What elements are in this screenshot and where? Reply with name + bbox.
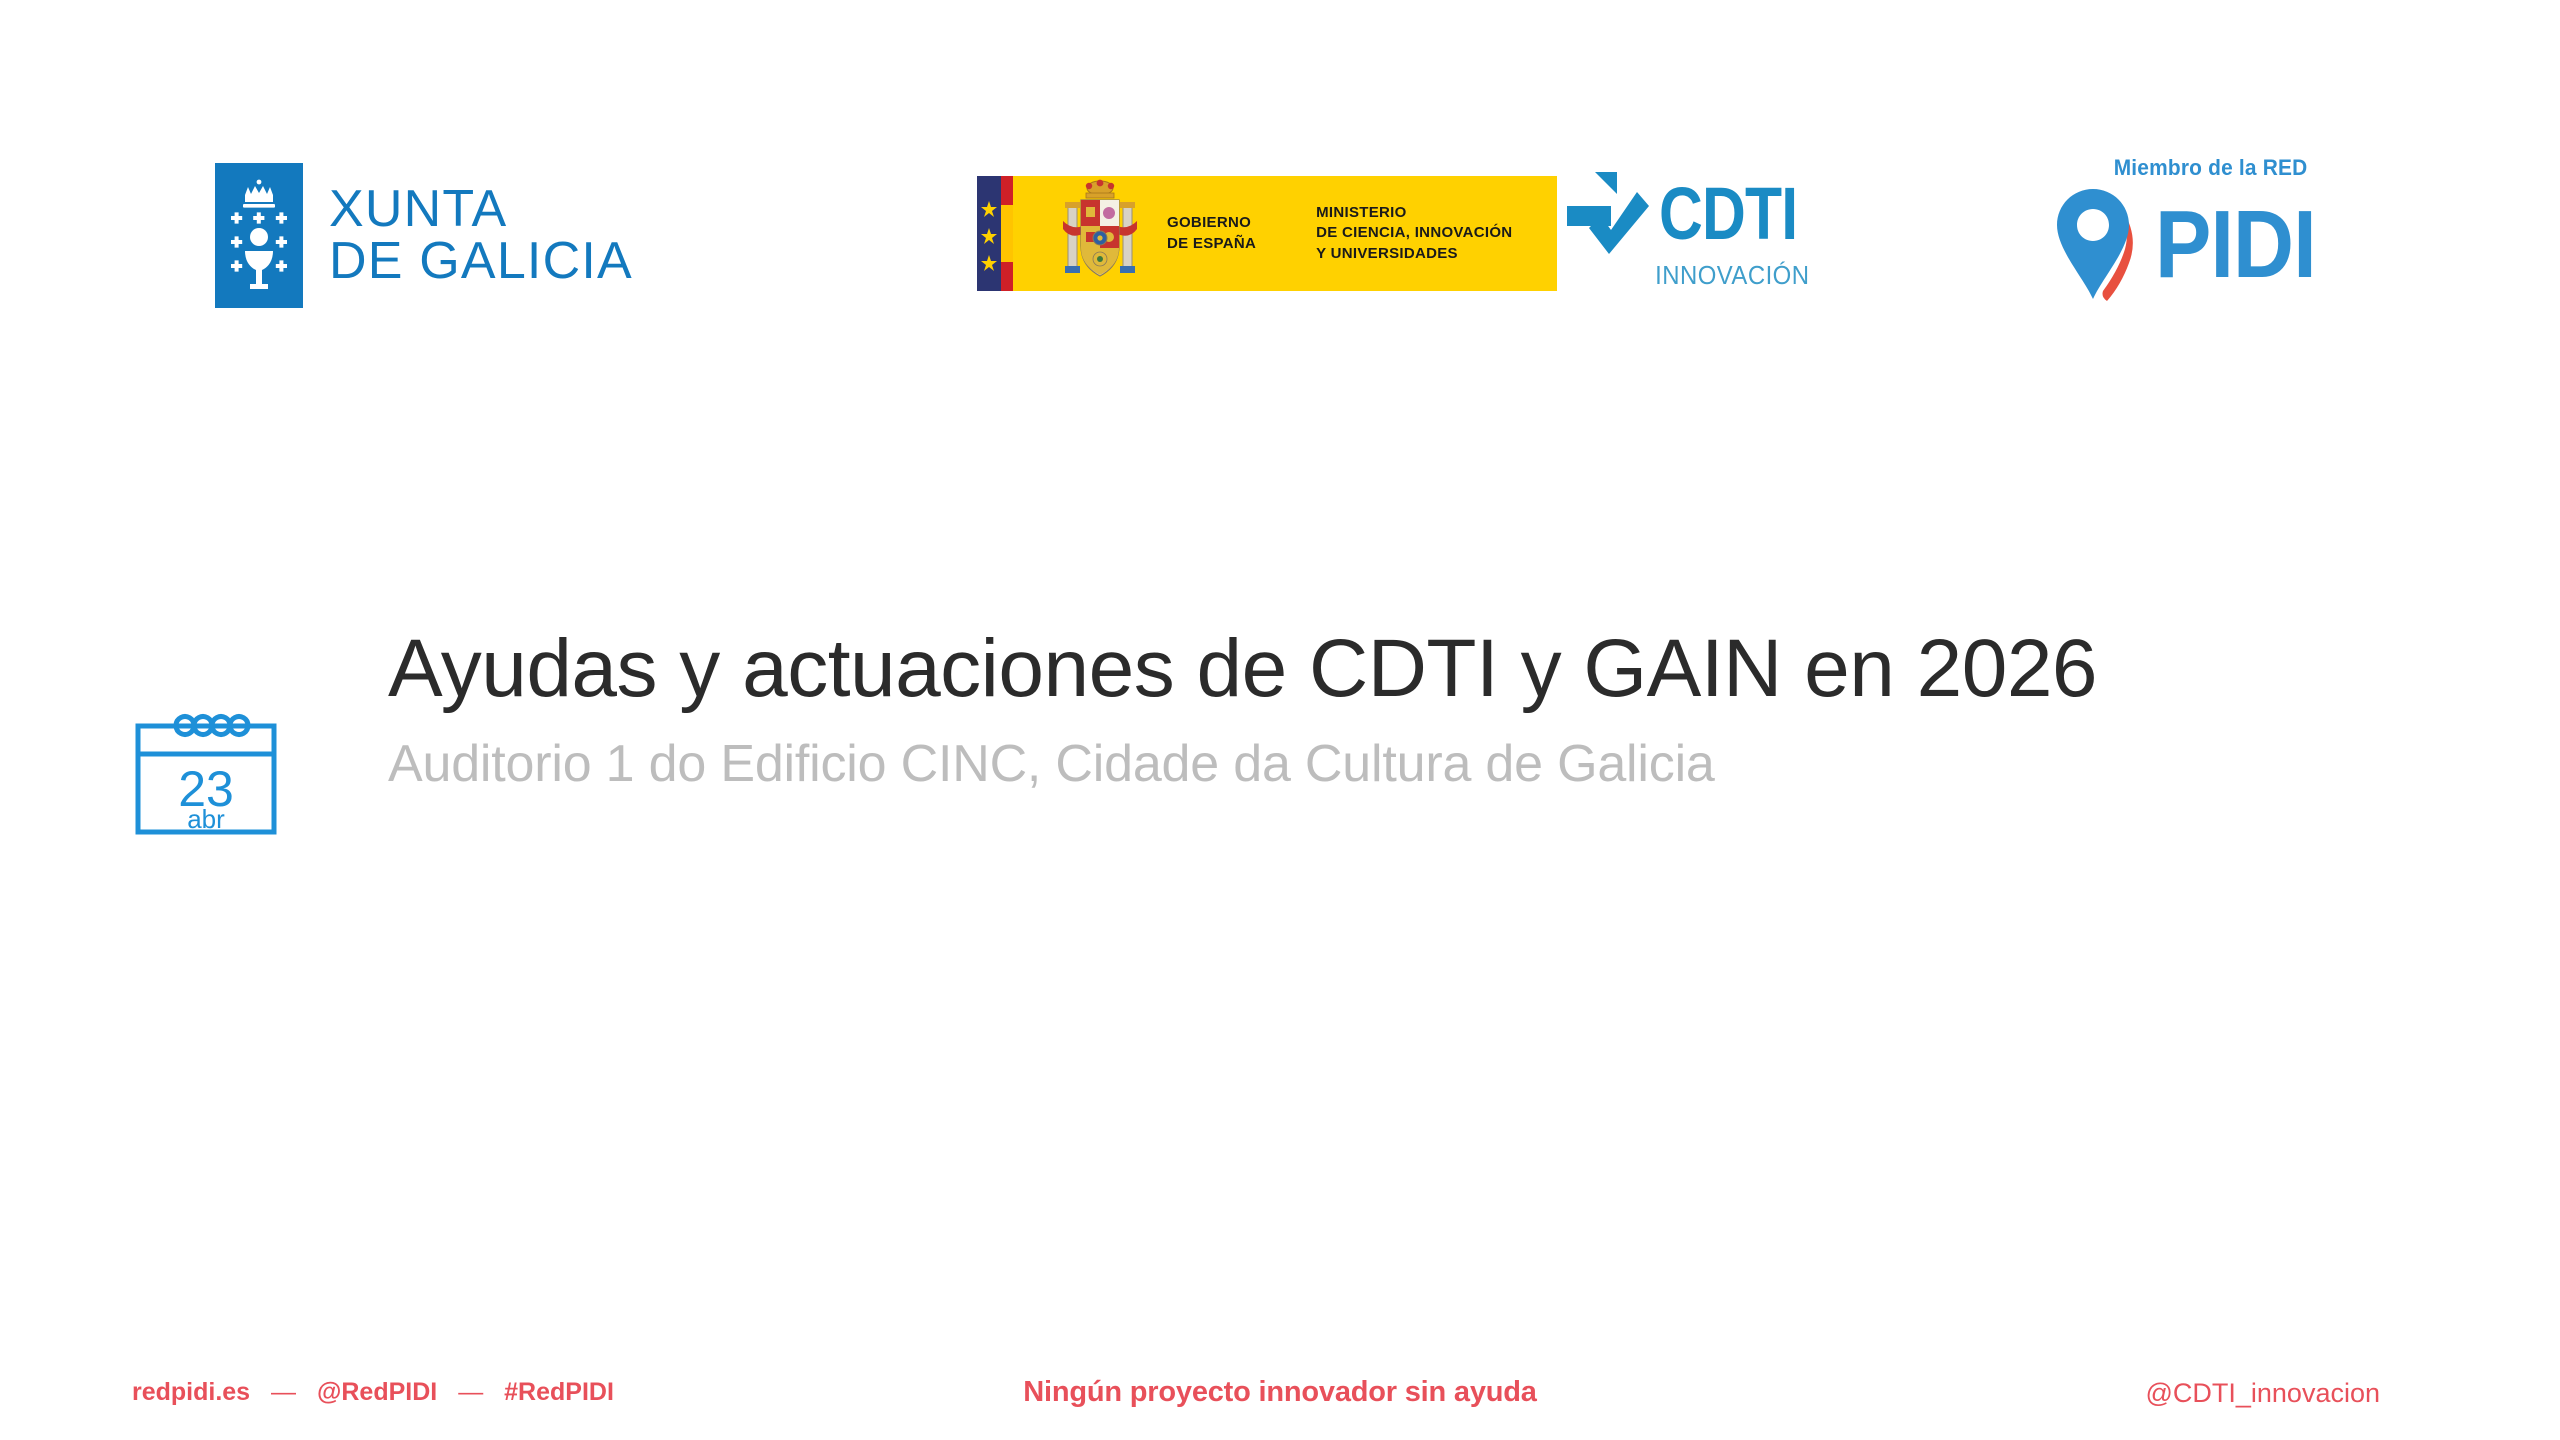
- spain-coat-of-arms-icon: [1059, 176, 1141, 291]
- xunta-line1: XUNTA: [329, 184, 633, 235]
- footer-right-handle[interactable]: @CDTI_innovacion: [2145, 1378, 2380, 1409]
- gobierno-column: GOBIERNO DE ESPAÑA: [1167, 213, 1256, 254]
- title-block: Ayudas y actuaciones de CDTI y GAIN en 2…: [388, 628, 2448, 790]
- spain-eu-flag-band-icon: [977, 176, 1035, 291]
- pidi-map-pin-icon: [2055, 185, 2149, 305]
- pidi-top-label: Miembro de la RED: [2068, 155, 2315, 181]
- gobierno-line1: GOBIERNO: [1167, 213, 1256, 233]
- gobierno-text-group: GOBIERNO DE ESPAÑA MINISTERIO DE CIENCIA…: [1167, 176, 1512, 291]
- ministerio-line3: Y UNIVERSIDADES: [1316, 244, 1512, 264]
- cdti-tagline: INNOVACIÓN: [1585, 260, 1815, 291]
- xunta-emblem-icon: [215, 163, 303, 308]
- cdti-top-row: CDTI: [1565, 170, 1815, 258]
- ministerio-column: MINISTERIO DE CIENCIA, INNOVACIÓN Y UNIV…: [1316, 203, 1512, 264]
- logo-cdti: CDTI INNOVACIÓN: [1565, 170, 1815, 291]
- calendar-month: abr: [187, 804, 225, 834]
- presentation-slide: XUNTA DE GALICIA: [0, 0, 2560, 1440]
- pidi-row: PIDI: [2055, 185, 2315, 305]
- calendar-icon: 23 abr: [132, 710, 280, 838]
- ministerio-line2: DE CIENCIA, INNOVACIÓN: [1316, 223, 1512, 243]
- xunta-line2: DE GALICIA: [329, 236, 633, 287]
- logo-gobierno-de-espana: GOBIERNO DE ESPAÑA MINISTERIO DE CIENCIA…: [977, 176, 1557, 291]
- page-subtitle: Auditorio 1 do Edificio CINC, Cidade da …: [388, 738, 2448, 790]
- page-title: Ayudas y actuaciones de CDTI y GAIN en 2…: [388, 628, 2448, 710]
- logo-pidi: Miembro de la RED PIDI: [2055, 155, 2315, 305]
- cdti-wordmark: CDTI: [1659, 184, 1797, 245]
- ministerio-line1: MINISTERIO: [1316, 203, 1512, 223]
- cdti-check-arrow-icon: [1565, 170, 1651, 258]
- xunta-wordmark: XUNTA DE GALICIA: [329, 184, 633, 287]
- gobierno-line2: DE ESPAÑA: [1167, 234, 1256, 254]
- pidi-wordmark: PIDI: [2155, 206, 2316, 285]
- logo-xunta-de-galicia: XUNTA DE GALICIA: [215, 163, 633, 308]
